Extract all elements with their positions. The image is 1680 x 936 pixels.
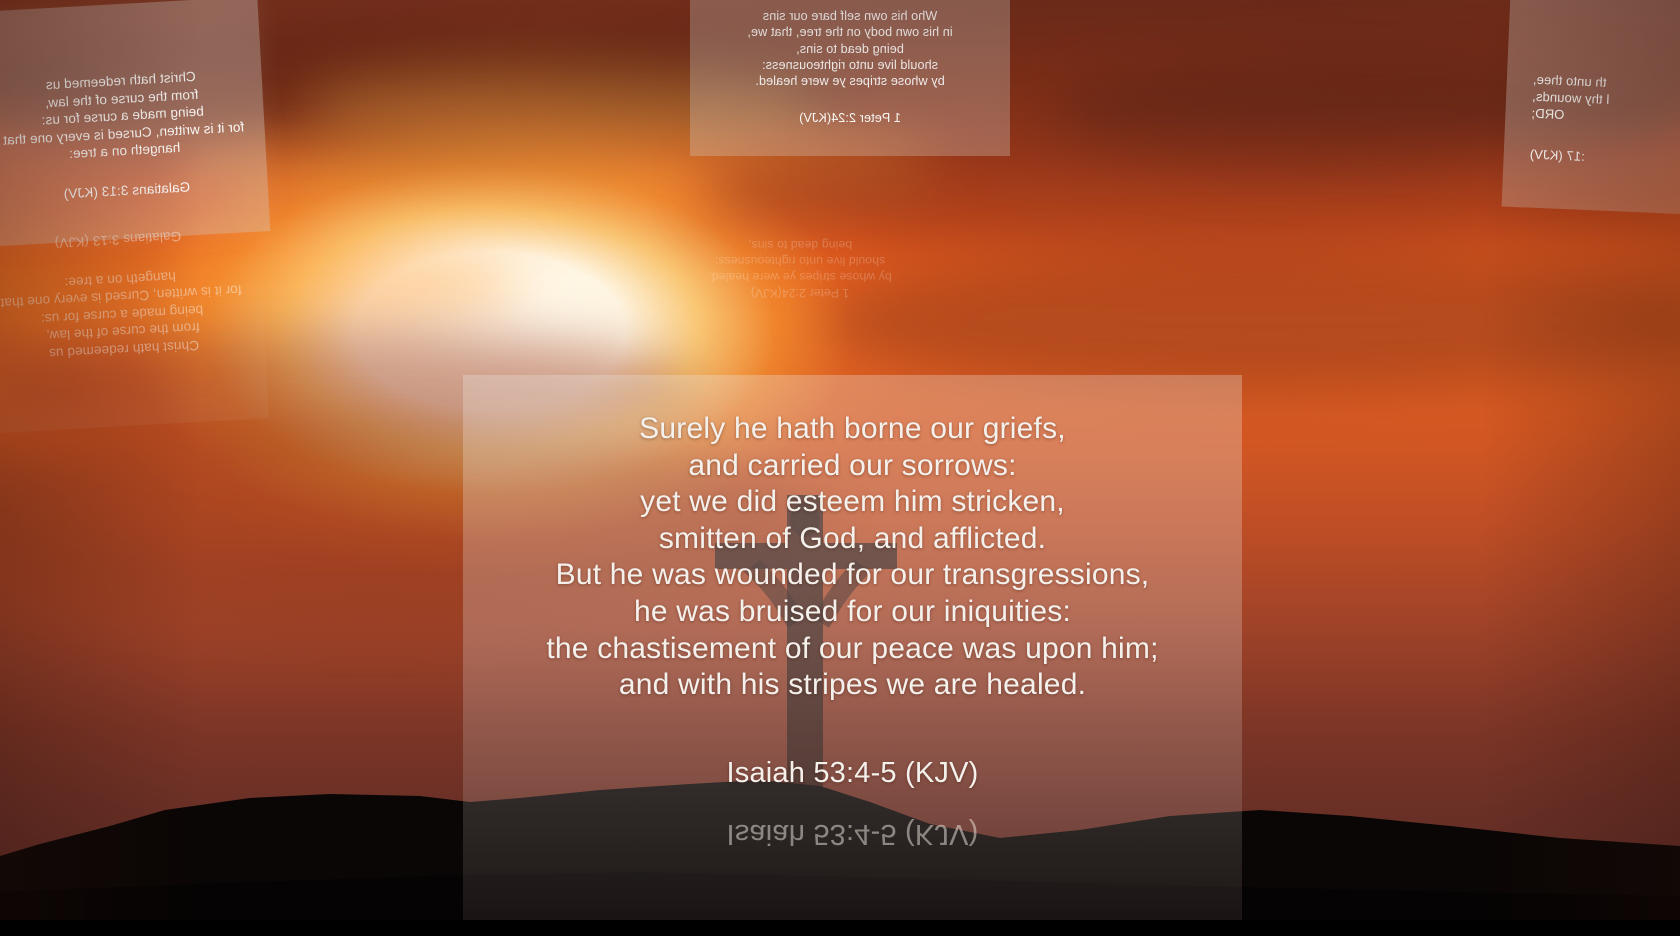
verse-line: and carried our sorrows: [463, 448, 1242, 485]
verse-line: he was bruised for our iniquities: [463, 594, 1242, 631]
bottom-letterbox-bar [0, 920, 1680, 936]
verse-card-jeremiah-content: th unto thee, l thy wounds, ORD; :17 (KJ… [1503, 0, 1680, 173]
verse-card-reference: :17 (KJV) [1529, 146, 1680, 172]
verse-line: should live unto righteousness: [650, 252, 950, 268]
verse-line: by whose stripes ye were healed. [650, 268, 950, 284]
verse-card-first-peter-ghost-content: 1 Peter 2:24(KJV) by whose stripes ye we… [640, 237, 960, 320]
verse-card-galatians-reflection: Christ hath redeemed us from the curse o… [0, 228, 269, 433]
verse-line: being dead to sins, [700, 41, 1000, 57]
verse-line: yet we did esteem him stricken, [463, 484, 1242, 521]
scene-stage: Christ hath redeemed us from the curse o… [0, 0, 1680, 936]
verse-card-galatians-content: Christ hath redeemed us from the curse o… [0, 0, 268, 207]
verse-line: Who his own self bare our sins [700, 8, 1000, 24]
verse-line: smitten of God, and afflicted. [463, 521, 1242, 558]
verse-card-jeremiah: th unto thee, l thy wounds, ORD; :17 (KJ… [1502, 0, 1680, 217]
verse-card-galatians-reflection-content: Christ hath redeemed us from the curse o… [0, 223, 269, 434]
verse-card-reference: 1 Peter 2:24(KJV) [650, 284, 950, 300]
verse-card-reference: 1 Peter 2:24(KJV) [700, 110, 1000, 126]
verse-card-galatians: Christ hath redeemed us from the curse o… [0, 0, 270, 247]
verse-line: and with his stripes we are healed. [463, 667, 1242, 704]
verse-card-first-peter-content: Who his own self bare our sins in his ow… [690, 0, 1010, 126]
verse-card-reference: Galatians 3:13 (KJV) [0, 174, 260, 206]
verse-line: by whose stripes ye were healed. [700, 73, 1000, 89]
verse-line: should live unto righteousness: [700, 57, 1000, 73]
verse-line: But he was wounded for our transgression… [463, 557, 1242, 594]
verse-line: in his own body on the tree, that we, [700, 24, 1000, 40]
main-verse-reference: Isaiah 53:4-5 (KJV) [463, 757, 1242, 790]
main-verse-text: Surely he hath borne our griefs, and car… [463, 411, 1242, 704]
verse-line: the chastisement of our peace was upon h… [463, 631, 1242, 668]
main-verse-reference-reflection: Isaiah 53:4-5 (KJV) [463, 817, 1242, 850]
verse-line: Surely he hath borne our griefs, [463, 411, 1242, 448]
verse-card-first-peter: Who his own self bare our sins in his ow… [690, 0, 1010, 156]
main-verse-panel: Surely he hath borne our griefs, and car… [463, 375, 1242, 936]
verse-card-first-peter-ghost: 1 Peter 2:24(KJV) by whose stripes ye we… [640, 190, 960, 320]
verse-line: being dead to sins, [650, 237, 950, 253]
